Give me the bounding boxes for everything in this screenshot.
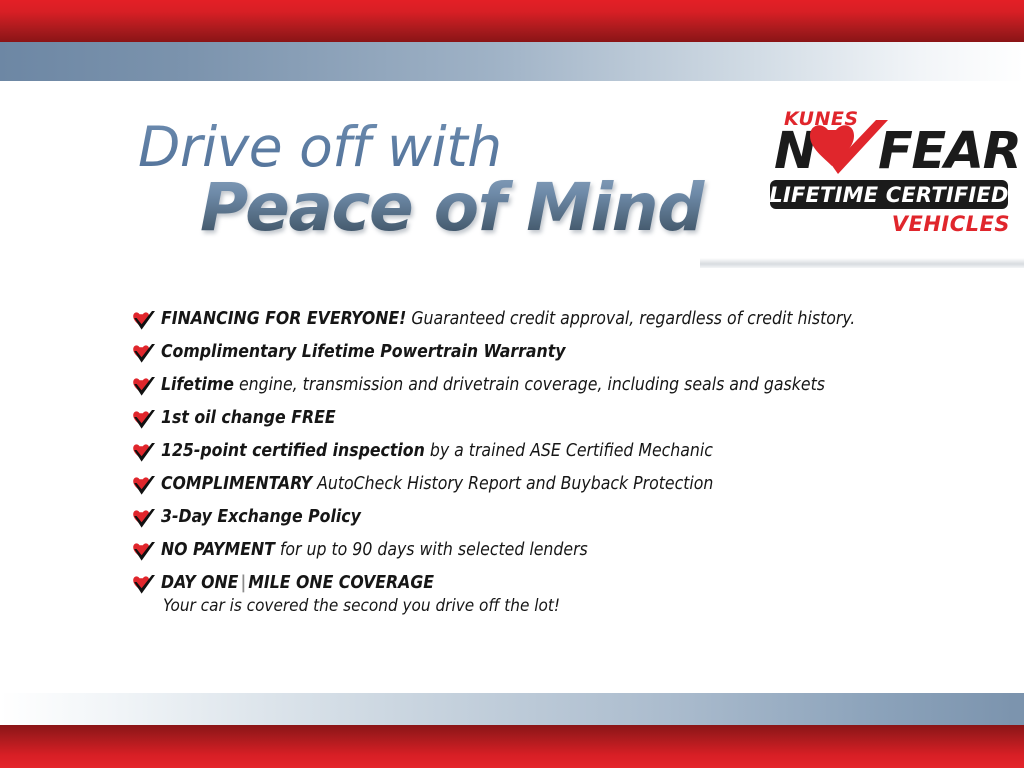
list-item: Lifetime engine, transmission and drivet… — [132, 374, 932, 398]
list-item-lead: FINANCING FOR EVERYONE! — [161, 309, 406, 329]
list-item-text: 3-Day Exchange Policy — [161, 507, 361, 527]
list-item-lead: 3-Day Exchange Policy — [161, 507, 361, 527]
list-item-body: 3-Day Exchange Policy — [161, 506, 932, 528]
list-item-body: DAY ONE|MILE ONE COVERAGE Your car is co… — [161, 572, 932, 617]
list-item: Complimentary Lifetime Powertrain Warran… — [132, 341, 932, 365]
list-item-body: 1st oil change FREE — [161, 407, 932, 429]
heart-check-icon — [132, 541, 156, 563]
list-item-text: DAY ONE|MILE ONE COVERAGE — [161, 573, 434, 593]
list-item: 1st oil change FREE — [132, 407, 932, 431]
list-item-text: 125-point certified inspection by a trai… — [161, 441, 713, 461]
list-item-detail: engine, transmission and drivetrain cove… — [234, 375, 825, 395]
headline-divider — [700, 258, 1024, 268]
list-item-body: NO PAYMENT for up to 90 days with select… — [161, 539, 932, 561]
list-item: COMPLIMENTARY AutoCheck History Report a… — [132, 473, 932, 497]
list-item-body: 125-point certified inspection by a trai… — [161, 440, 932, 462]
heart-check-icon — [132, 475, 156, 497]
list-item-lead: 1st oil change FREE — [161, 408, 336, 428]
list-item-detail: by a trained ASE Certified Mechanic — [425, 441, 713, 461]
list-item-text: NO PAYMENT for up to 90 days with select… — [161, 540, 588, 560]
list-item: DAY ONE|MILE ONE COVERAGE Your car is co… — [132, 572, 932, 617]
bottom-slate-band — [0, 693, 1024, 725]
list-item-lead: DAY ONE — [161, 573, 238, 593]
list-item-detail: for up to 90 days with selected lenders — [275, 540, 588, 560]
heart-check-icon — [132, 508, 156, 530]
list-item-detail: Guaranteed credit approval, regardless o… — [406, 309, 855, 329]
heart-check-icon — [132, 376, 156, 398]
headline-block: Drive off with Peace of Mind — [138, 118, 738, 244]
list-item-lead: Complimentary Lifetime Powertrain Warran… — [161, 342, 566, 362]
heart-check-icon — [132, 442, 156, 464]
headline-line-2: Peace of Mind — [200, 172, 738, 244]
list-item-lead: NO PAYMENT — [161, 540, 275, 560]
list-item: FINANCING FOR EVERYONE! Guaranteed credi… — [132, 308, 932, 332]
list-item-text: Lifetime engine, transmission and drivet… — [161, 375, 825, 395]
list-item: 125-point certified inspection by a trai… — [132, 440, 932, 464]
list-item-text: COMPLIMENTARY AutoCheck History Report a… — [161, 474, 713, 494]
headline-line-1: Drive off with — [138, 118, 738, 176]
list-item: NO PAYMENT for up to 90 days with select… — [132, 539, 932, 563]
top-slate-band — [0, 42, 1024, 81]
benefits-list: FINANCING FOR EVERYONE! Guaranteed credi… — [132, 308, 932, 626]
list-item-lead: 125-point certified inspection — [161, 441, 425, 461]
logo-no-fear-wordmark: N FEAR — [774, 126, 1016, 178]
list-item: 3-Day Exchange Policy — [132, 506, 932, 530]
heart-check-icon — [132, 310, 156, 332]
list-item-text: Complimentary Lifetime Powertrain Warran… — [161, 342, 566, 362]
list-item-text: FINANCING FOR EVERYONE! Guaranteed credi… — [161, 309, 855, 329]
logo-word-vehicles: VEHICLES — [892, 212, 1010, 236]
heart-check-icon — [132, 409, 156, 431]
top-red-band — [0, 0, 1024, 42]
logo-bar-text: LIFETIME CERTIFIED — [769, 183, 1008, 207]
list-item-lead-2: MILE ONE COVERAGE — [248, 573, 434, 593]
kunes-no-fear-logo: KUNES N FEAR LIFETIME CERTIFIED VEHICLES — [770, 108, 1016, 248]
list-item-lead: Lifetime — [161, 375, 234, 395]
list-item-body: Lifetime engine, transmission and drivet… — [161, 374, 932, 396]
list-item-separator: | — [238, 573, 248, 593]
list-item-subtext: Your car is covered the second you drive… — [163, 595, 932, 617]
list-item-body: COMPLIMENTARY AutoCheck History Report a… — [161, 473, 932, 495]
logo-lifetime-certified-bar: LIFETIME CERTIFIED — [770, 180, 1008, 209]
heart-check-icon — [132, 343, 156, 365]
logo-word-fear: FEAR — [878, 126, 1020, 177]
bottom-red-band — [0, 725, 1024, 768]
list-item-text: 1st oil change FREE — [161, 408, 336, 428]
list-item-lead: COMPLIMENTARY — [161, 474, 312, 494]
list-item-body: FINANCING FOR EVERYONE! Guaranteed credi… — [161, 308, 932, 330]
heart-check-icon — [132, 574, 156, 596]
list-item-body: Complimentary Lifetime Powertrain Warran… — [161, 341, 932, 363]
list-item-detail: AutoCheck History Report and Buyback Pro… — [312, 474, 713, 494]
